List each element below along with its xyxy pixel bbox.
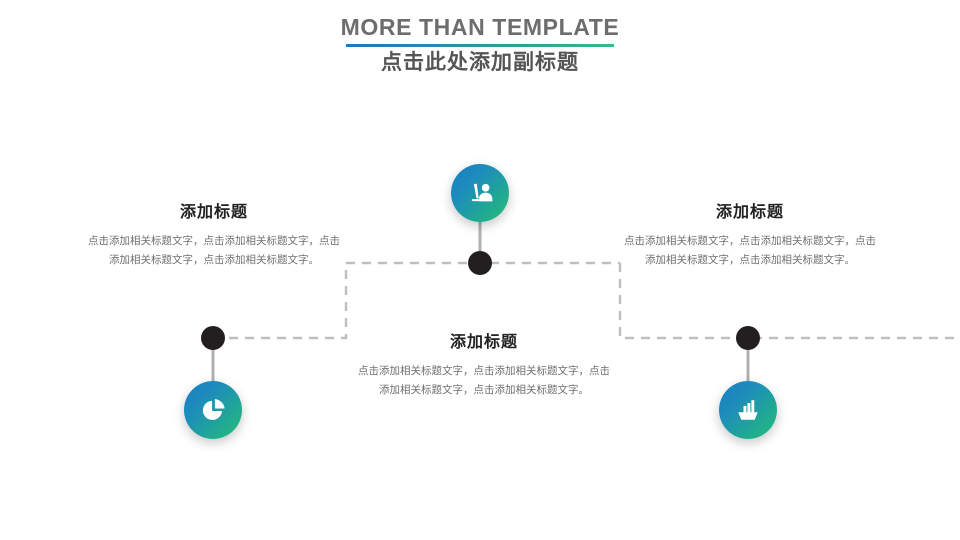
page-title: MORE THAN TEMPLATE [0,14,960,40]
content-block-left: 添加标题 点击添加相关标题文字，点击添加相关标题文字，点击添加相关标题文字，点击… [88,198,340,270]
presenter-icon [451,164,509,222]
block-left-title: 添加标题 [88,198,340,222]
content-block-right: 添加标题 点击添加相关标题文字，点击添加相关标题文字，点击添加相关标题文字，点击… [624,198,876,270]
content-block-center: 添加标题 点击添加相关标题文字，点击添加相关标题文字，点击添加相关标题文字，点击… [358,328,610,400]
icon-node-right[interactable] [719,381,777,439]
connector-right-elbow [620,263,960,338]
block-left-body: 点击添加相关标题文字，点击添加相关标题文字，点击添加相关标题文字，点击添加相关标… [88,232,340,270]
block-center-body: 点击添加相关标题文字，点击添加相关标题文字，点击添加相关标题文字，点击添加相关标… [358,362,610,400]
slide-canvas: MORE THAN TEMPLATE 点击此处添加副标题 [0,0,960,540]
page-subtitle: 点击此处添加副标题 [0,49,960,76]
slide-header: MORE THAN TEMPLATE 点击此处添加副标题 [0,14,960,76]
block-right-title: 添加标题 [624,198,876,222]
junction-dot-left [201,326,225,350]
pie-chart-icon [184,381,242,439]
junction-dot-right [736,326,760,350]
connector-left-elbow [213,263,346,338]
bar-chart-tray-icon [719,381,777,439]
junction-dot-center [468,251,492,275]
icon-node-left[interactable] [184,381,242,439]
block-center-title: 添加标题 [358,328,610,352]
title-underline-gradient [346,44,614,47]
block-right-body: 点击添加相关标题文字，点击添加相关标题文字，点击添加相关标题文字，点击添加相关标… [624,232,876,270]
icon-node-center[interactable] [451,164,509,222]
